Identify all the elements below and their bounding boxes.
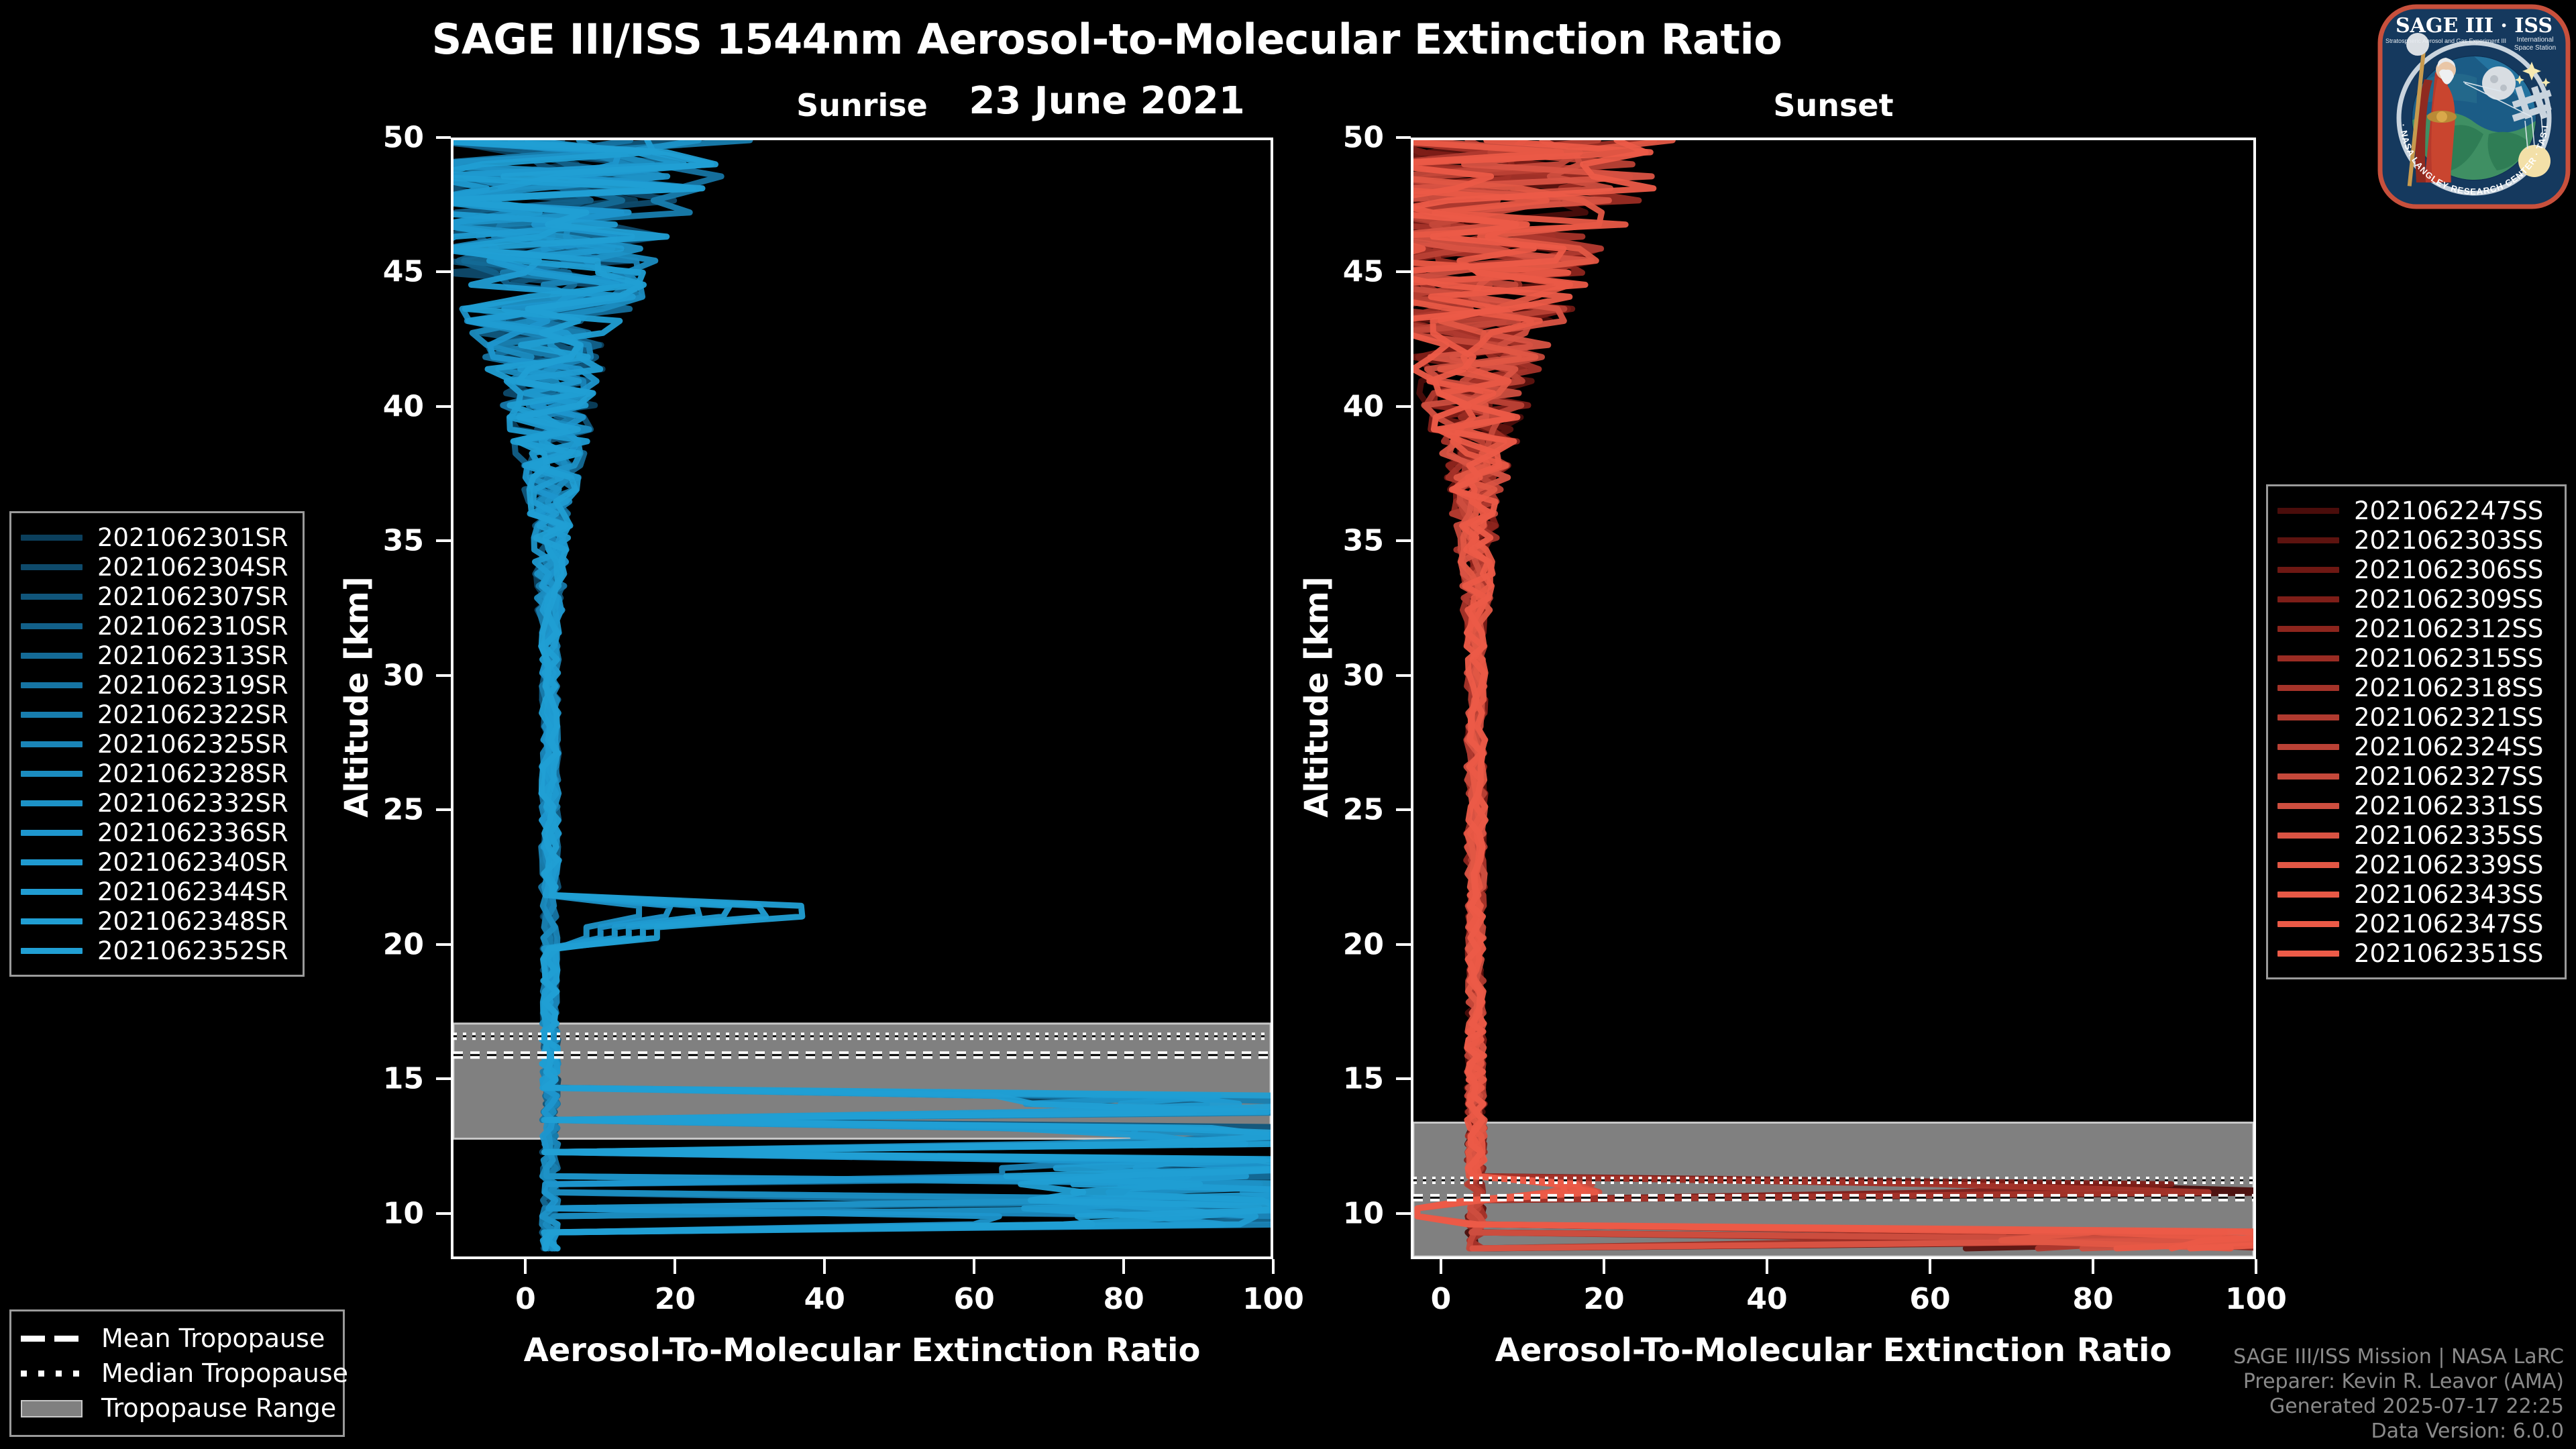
credits-line-1: SAGE III/ISS Mission | NASA LaRC	[2233, 1344, 2564, 1369]
xtick-label-40: 40	[1746, 1282, 1787, 1316]
logo-title: SAGE III · ISS	[2396, 14, 2553, 38]
legend-color-swatch	[2277, 508, 2339, 514]
legend-label-mean-tropopause: Mean Tropopause	[101, 1324, 325, 1353]
axis-title-y: Altitude [km]	[1298, 576, 1336, 818]
axis-title-y: Altitude [km]	[338, 576, 376, 818]
xtick-label-100: 100	[1242, 1282, 1304, 1316]
xtick-mark	[973, 1259, 975, 1274]
xtick-mark	[674, 1259, 676, 1274]
legend-item: 2021062318SS	[2277, 673, 2553, 702]
legend-item: 2021062319SR	[21, 670, 290, 700]
ytick-mark	[436, 405, 451, 408]
legend-item: 2021062343SS	[2277, 879, 2553, 909]
legend-item: 2021062315SS	[2277, 643, 2553, 673]
legend-item-median-tropopause: Median Tropopause	[21, 1356, 331, 1391]
legend-color-swatch	[2277, 833, 2339, 839]
xtick-mark	[1272, 1259, 1275, 1274]
legend-color-swatch	[21, 564, 83, 570]
legend-label: 2021062304SR	[97, 553, 288, 582]
legend-item: 2021062301SR	[21, 523, 290, 552]
credits-block: SAGE III/ISS Mission | NASA LaRC Prepare…	[2233, 1344, 2564, 1444]
legend-color-swatch	[2277, 714, 2339, 720]
sage-iii-iss-mission-patch-logo: SAGE III · ISS Stratospheric Aerosol and…	[2376, 3, 2572, 211]
legend-label: 2021062335SS	[2354, 821, 2543, 850]
legend-color-swatch	[2277, 596, 2339, 602]
ytick-label-45: 45	[1317, 255, 1384, 289]
xtick-label-80: 80	[1103, 1282, 1144, 1316]
xtick-mark	[524, 1259, 527, 1274]
legend-color-swatch	[2277, 626, 2339, 632]
xtick-mark	[1766, 1259, 1768, 1274]
logo-subtitle-right-1: International	[2516, 36, 2553, 44]
xtick-mark	[1440, 1259, 1442, 1274]
legend-label: 2021062343SS	[2354, 880, 2543, 909]
legend-label: 2021062310SR	[97, 612, 288, 641]
ytick-mark	[436, 674, 451, 677]
ytick-mark	[1396, 1077, 1411, 1080]
legend-label: 2021062327SS	[2354, 762, 2543, 791]
legend-color-swatch	[21, 948, 83, 954]
logo-subtitle-left: Stratospheric Aerosol and Gas Experiment…	[2385, 38, 2506, 44]
ytick-mark	[436, 270, 451, 273]
legend-color-swatch	[21, 535, 83, 541]
legend-item: 2021062344SR	[21, 877, 290, 906]
legend-label-tropopause-range: Tropopause Range	[101, 1393, 336, 1423]
legend-color-swatch	[21, 918, 83, 924]
legend-item: 2021062306SS	[2277, 555, 2553, 584]
credits-line-4: Data Version: 6.0.0	[2233, 1419, 2564, 1444]
legend-sunset: 2021062247SS2021062303SS2021062306SS2021…	[2266, 484, 2567, 979]
legend-label: 2021062315SS	[2354, 644, 2543, 673]
panel-title-sunset: Sunset	[1411, 87, 2256, 123]
legend-label: 2021062347SS	[2354, 910, 2543, 938]
legend-color-swatch	[2277, 537, 2339, 543]
xtick-label-60: 60	[954, 1282, 995, 1316]
legend-item: 2021062304SR	[21, 552, 290, 582]
ytick-mark	[1396, 674, 1411, 677]
axis-title-x: Aerosol-To-Molecular Extinction Ratio	[1411, 1332, 2256, 1369]
ytick-label-35: 35	[1317, 524, 1384, 558]
ytick-label-45: 45	[357, 255, 424, 289]
page-title: SAGE III/ISS 1544nm Aerosol-to-Molecular…	[0, 15, 2214, 64]
ytick-label-10: 10	[1317, 1196, 1384, 1230]
legend-label: 2021062247SS	[2354, 496, 2543, 525]
legend-item: 2021062352SR	[21, 936, 290, 965]
legend-item: 2021062322SR	[21, 700, 290, 729]
ytick-label-50: 50	[357, 121, 424, 155]
legend-color-swatch	[21, 712, 83, 718]
legend-label: 2021062307SR	[97, 582, 288, 611]
legend-color-swatch	[2277, 921, 2339, 927]
ytick-mark	[436, 1077, 451, 1080]
xtick-mark	[823, 1259, 826, 1274]
legend-item: 2021062347SS	[2277, 909, 2553, 938]
legend-item: 2021062312SS	[2277, 614, 2553, 643]
xtick-label-100: 100	[2225, 1282, 2287, 1316]
plot-area-sunset	[1411, 138, 2256, 1259]
ytick-label-40: 40	[1317, 389, 1384, 423]
ytick-label-10: 10	[357, 1196, 424, 1230]
credits-line-2: Preparer: Kevin R. Leavor (AMA)	[2233, 1369, 2564, 1394]
legend-color-swatch	[21, 682, 83, 688]
gray-band-icon	[21, 1399, 87, 1417]
ytick-mark	[1396, 1212, 1411, 1215]
legend-label: 2021062351SS	[2354, 939, 2543, 968]
profile-curves-sunset	[1413, 140, 2253, 1256]
plot-area-sunrise	[451, 138, 1273, 1259]
ytick-label-20: 20	[357, 927, 424, 961]
legend-label: 2021062321SS	[2354, 703, 2543, 732]
ytick-mark	[436, 943, 451, 946]
legend-item: 2021062310SR	[21, 611, 290, 641]
legend-color-swatch	[2277, 803, 2339, 809]
ytick-mark	[436, 1212, 451, 1215]
legend-color-swatch	[2277, 744, 2339, 750]
legend-item: 2021062303SS	[2277, 525, 2553, 555]
legend-label: 2021062303SS	[2354, 526, 2543, 555]
legend-label: 2021062306SS	[2354, 555, 2543, 584]
legend-color-swatch	[2277, 567, 2339, 573]
legend-color-swatch	[21, 623, 83, 629]
panel-title-sunrise: Sunrise	[451, 87, 1273, 123]
legend-tropopause: Mean Tropopause Median Tropopause Tropop…	[9, 1309, 345, 1437]
xtick-mark	[1603, 1259, 1605, 1274]
ytick-mark	[436, 808, 451, 811]
ytick-mark	[1396, 808, 1411, 811]
legend-item: 2021062325SR	[21, 729, 290, 759]
legend-item: 2021062307SR	[21, 582, 290, 611]
legend-color-swatch	[21, 830, 83, 836]
ytick-label-35: 35	[357, 524, 424, 558]
ytick-label-15: 15	[1317, 1062, 1384, 1096]
ytick-mark	[436, 136, 451, 139]
ytick-mark	[436, 539, 451, 542]
legend-label: 2021062339SS	[2354, 851, 2543, 879]
legend-item: 2021062309SS	[2277, 584, 2553, 614]
legend-label: 2021062313SR	[97, 641, 288, 670]
ytick-mark	[1396, 405, 1411, 408]
legend-label: 2021062309SS	[2354, 585, 2543, 614]
legend-color-swatch	[21, 889, 83, 895]
profile-curves-sunrise	[453, 140, 1271, 1256]
dotted-line-icon	[21, 1364, 87, 1382]
legend-item: 2021062340SR	[21, 847, 290, 877]
legend-color-swatch	[21, 594, 83, 600]
legend-label: 2021062325SR	[97, 730, 288, 759]
legend-color-swatch	[21, 800, 83, 806]
xtick-label-0: 0	[515, 1282, 536, 1316]
legend-color-swatch	[21, 653, 83, 659]
axis-title-x: Aerosol-To-Molecular Extinction Ratio	[451, 1332, 1273, 1369]
legend-color-swatch	[2277, 892, 2339, 898]
legend-label: 2021062331SS	[2354, 792, 2543, 820]
ytick-label-15: 15	[357, 1062, 424, 1096]
xtick-mark	[1122, 1259, 1125, 1274]
xtick-label-80: 80	[2072, 1282, 2113, 1316]
xtick-label-60: 60	[1909, 1282, 1950, 1316]
ytick-mark	[1396, 943, 1411, 946]
ytick-label-40: 40	[357, 389, 424, 423]
legend-label: 2021062328SR	[97, 759, 288, 788]
legend-item: 2021062348SR	[21, 906, 290, 936]
dashed-line-icon	[21, 1330, 87, 1347]
legend-label: 2021062352SR	[97, 936, 288, 965]
ytick-mark	[1396, 270, 1411, 273]
xtick-label-20: 20	[655, 1282, 696, 1316]
ytick-label-20: 20	[1317, 927, 1384, 961]
legend-item: 2021062313SR	[21, 641, 290, 670]
legend-label: 2021062312SS	[2354, 614, 2543, 643]
legend-item: 2021062336SR	[21, 818, 290, 847]
xtick-mark	[2092, 1259, 2094, 1274]
legend-label: 2021062318SS	[2354, 674, 2543, 702]
legend-color-swatch	[2277, 685, 2339, 691]
legend-item-tropopause-range: Tropopause Range	[21, 1391, 331, 1426]
legend-item: 2021062331SS	[2277, 791, 2553, 820]
xtick-label-40: 40	[804, 1282, 845, 1316]
legend-color-swatch	[2277, 951, 2339, 957]
legend-label: 2021062344SR	[97, 877, 288, 906]
xtick-label-20: 20	[1583, 1282, 1624, 1316]
legend-item: 2021062328SR	[21, 759, 290, 788]
legend-color-swatch	[2277, 773, 2339, 780]
legend-label: 2021062324SS	[2354, 733, 2543, 761]
ytick-mark	[1396, 539, 1411, 542]
legend-item: 2021062351SS	[2277, 938, 2553, 968]
legend-label: 2021062322SR	[97, 700, 288, 729]
legend-label-median-tropopause: Median Tropopause	[101, 1358, 348, 1388]
legend-color-swatch	[21, 741, 83, 747]
ytick-label-50: 50	[1317, 121, 1384, 155]
xtick-mark	[1929, 1259, 1931, 1274]
legend-item-mean-tropopause: Mean Tropopause	[21, 1321, 331, 1356]
legend-sunrise: 2021062301SR2021062304SR2021062307SR2021…	[9, 511, 305, 977]
legend-label: 2021062332SR	[97, 789, 288, 818]
legend-label: 2021062340SR	[97, 848, 288, 877]
ytick-mark	[1396, 136, 1411, 139]
logo-subtitle-right-2: Space Station	[2514, 44, 2556, 52]
legend-item: 2021062321SS	[2277, 702, 2553, 732]
xtick-label-0: 0	[1431, 1282, 1452, 1316]
legend-item: 2021062332SR	[21, 788, 290, 818]
legend-item: 2021062247SS	[2277, 496, 2553, 525]
legend-label: 2021062348SR	[97, 907, 288, 936]
credits-line-3: Generated 2025-07-17 22:25	[2233, 1394, 2564, 1419]
legend-label: 2021062319SR	[97, 671, 288, 700]
xtick-mark	[2255, 1259, 2257, 1274]
legend-item: 2021062324SS	[2277, 732, 2553, 761]
legend-label: 2021062301SR	[97, 523, 288, 552]
legend-color-swatch	[21, 771, 83, 777]
legend-color-swatch	[21, 859, 83, 865]
legend-color-swatch	[2277, 862, 2339, 868]
legend-color-swatch	[2277, 655, 2339, 661]
legend-item: 2021062335SS	[2277, 820, 2553, 850]
legend-item: 2021062339SS	[2277, 850, 2553, 879]
legend-label: 2021062336SR	[97, 818, 288, 847]
legend-item: 2021062327SS	[2277, 761, 2553, 791]
